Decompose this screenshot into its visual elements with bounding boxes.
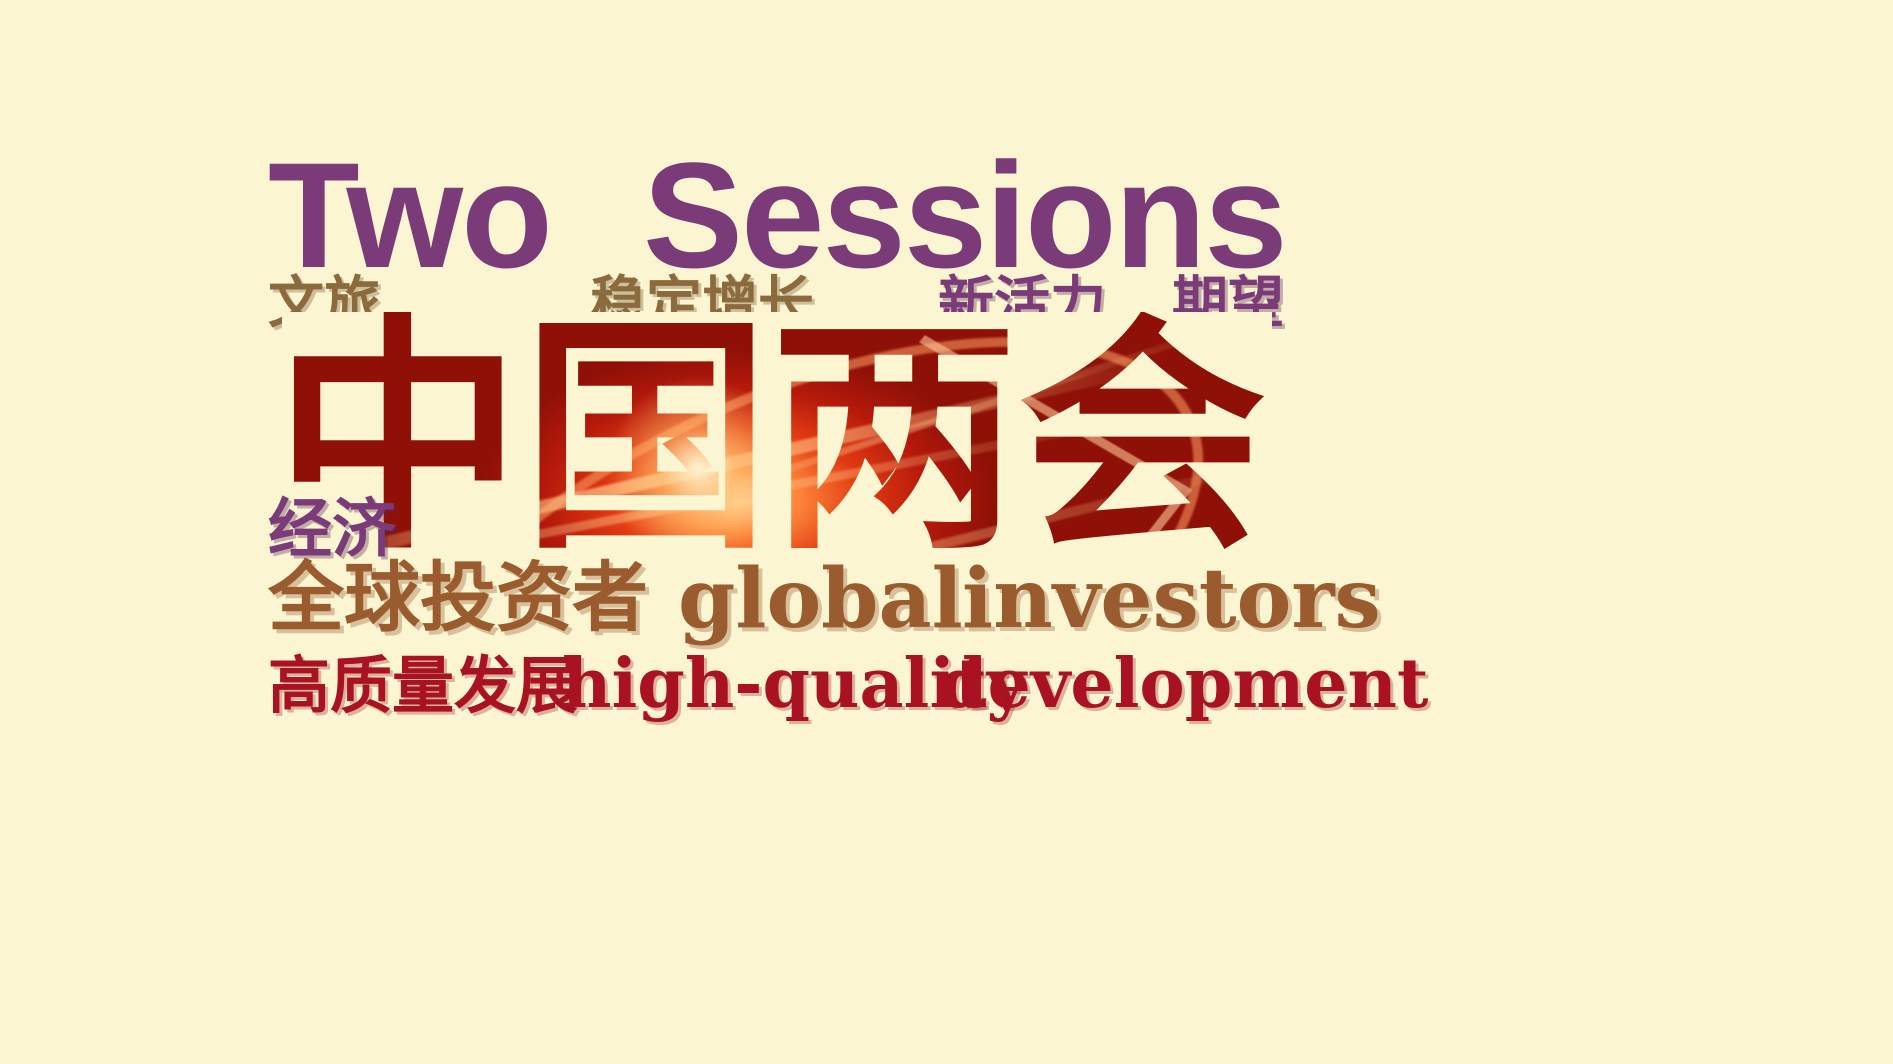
headline-zhongguo-lianghui: 中国两会	[282, 312, 1272, 572]
word-gaozhiliangfazhan: 高质量发展	[268, 655, 578, 717]
word-development: development	[940, 650, 1428, 718]
word-cloud-canvas: Two Sessions 文旅 稳定增长 新活力 期望 中国两会	[0, 0, 1893, 1064]
word-jingji: 经济	[268, 498, 396, 562]
word-quanqiutouzizhe: 全球投资者	[268, 560, 648, 636]
word-investors: investors	[962, 558, 1381, 640]
headline-knockout-mask: 中国两会	[282, 312, 1272, 572]
word-two: Two	[268, 140, 551, 290]
word-global: global	[678, 558, 963, 640]
word-sessions: Sessions	[643, 140, 1286, 290]
